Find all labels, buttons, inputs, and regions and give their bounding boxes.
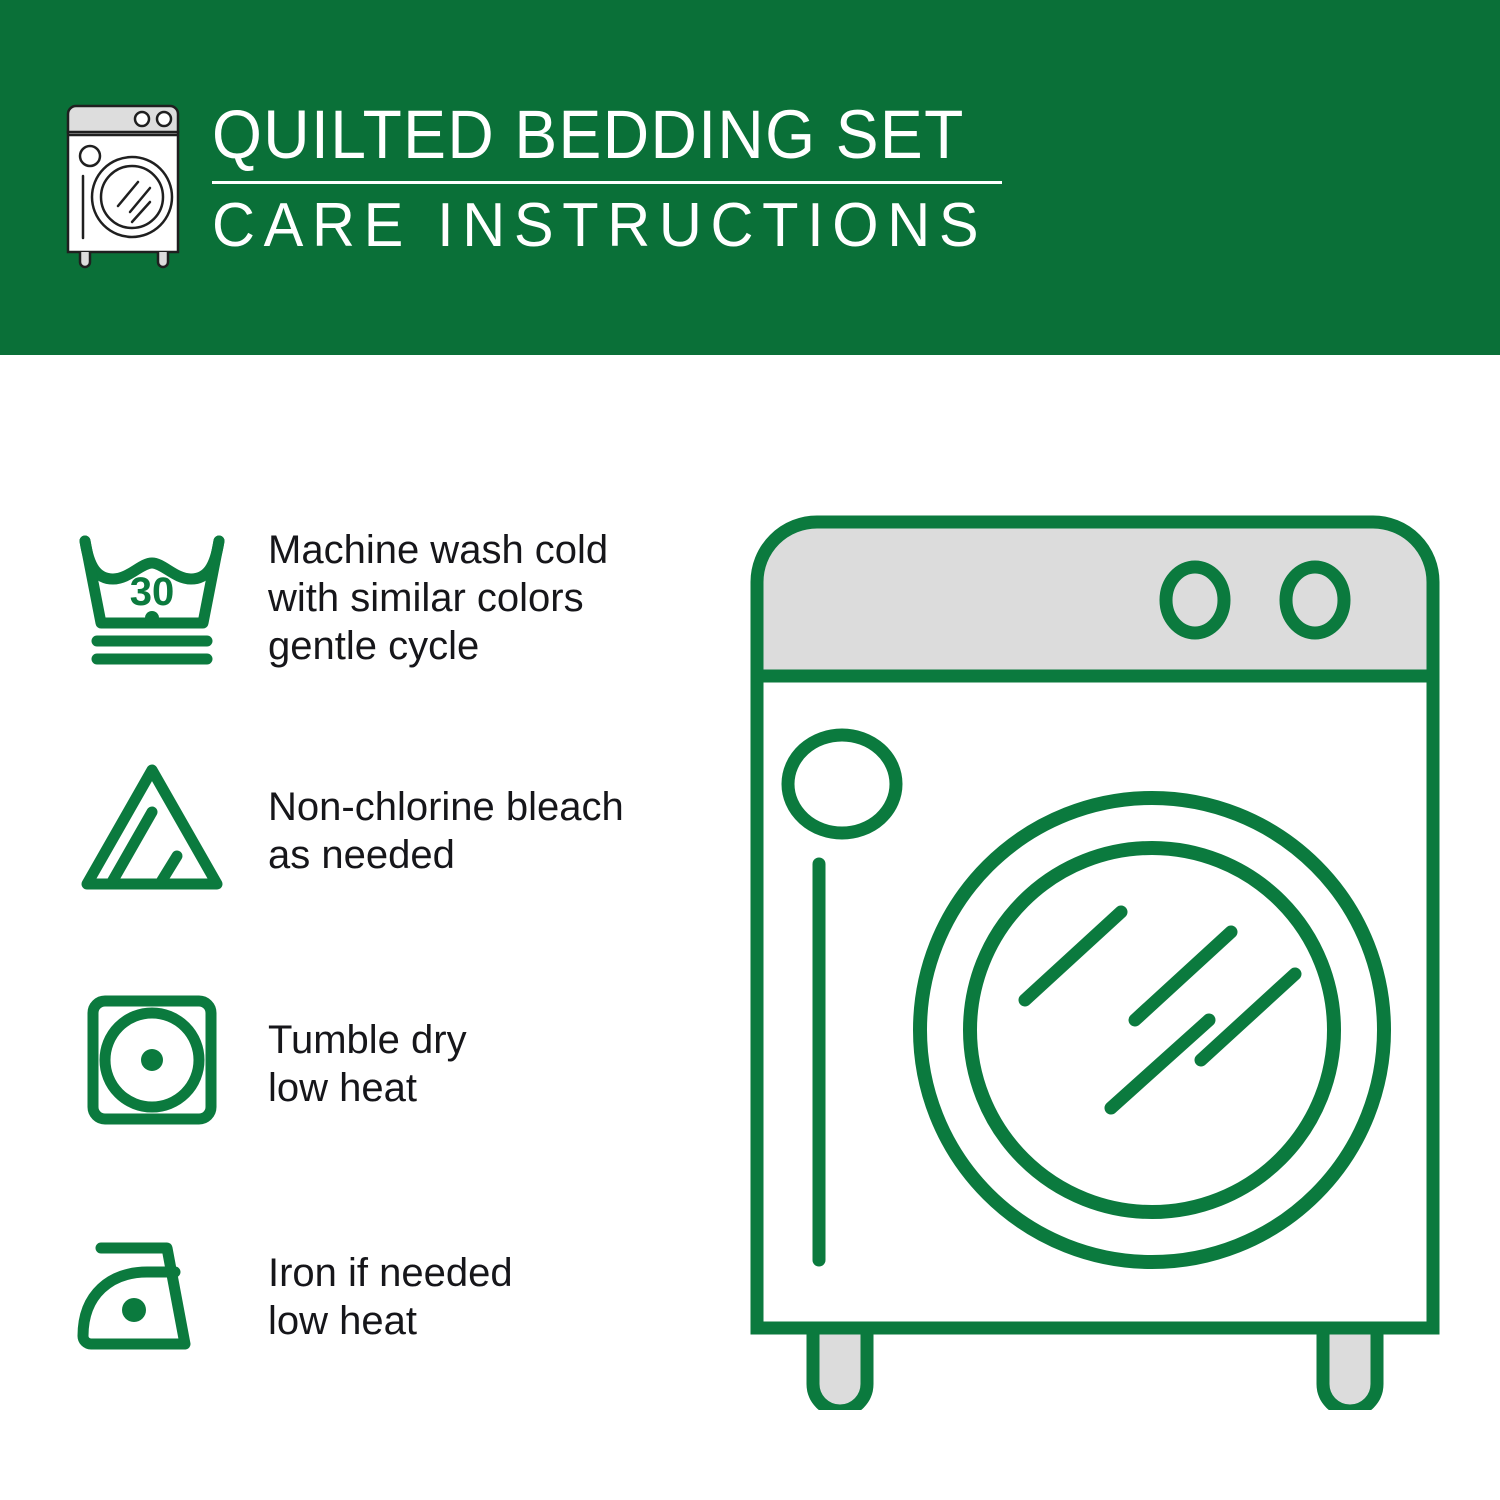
header-titles: QUILTED BEDDING SET CARE INSTRUCTIONS [212,96,1062,260]
page-subtitle: CARE INSTRUCTIONS [212,192,1028,260]
care-row-bleach: Non-chlorine bleach as needed [62,738,722,923]
leg-left [813,1328,867,1410]
care-instructions-page: QUILTED BEDDING SET CARE INSTRUCTIONS [0,0,1500,1500]
care-label-bleach: Non-chlorine bleach as needed [268,783,722,879]
door-inner-ring [970,848,1334,1212]
leg-right [1323,1328,1377,1410]
header-content: QUILTED BEDDING SET CARE INSTRUCTIONS [62,96,1062,276]
front-load-washing-machine-illustration [735,500,1455,1410]
tumble-dry-low-symbol [62,984,242,1144]
knob-left [1166,567,1224,633]
care-label-machine-wash: Machine wash cold with similar colors ge… [268,526,722,670]
care-row-tumble-dry: Tumble dry low heat [62,971,722,1156]
non-chlorine-bleach-triangle-symbol [62,751,242,911]
detergent-dispenser [788,735,896,833]
wash-temperature-value: 30 [130,570,175,614]
header-band: QUILTED BEDDING SET CARE INSTRUCTIONS [0,0,1500,355]
washing-machine-icon [62,102,190,270]
care-row-iron: Iron if needed low heat [62,1204,722,1389]
wash-tub-30-gentle-symbol: 30 [62,518,242,678]
title-divider [212,181,1002,184]
care-instruction-list: 30 Machine wash cold with similar colors… [62,505,722,1437]
care-row-machine-wash: 30 Machine wash cold with similar colors… [62,505,722,690]
iron-low-symbol [62,1217,242,1377]
care-label-tumble-dry: Tumble dry low heat [268,1016,722,1112]
page-title: QUILTED BEDDING SET [212,98,1003,172]
knob-right [1286,567,1344,633]
care-label-iron: Iron if needed low heat [268,1249,722,1345]
